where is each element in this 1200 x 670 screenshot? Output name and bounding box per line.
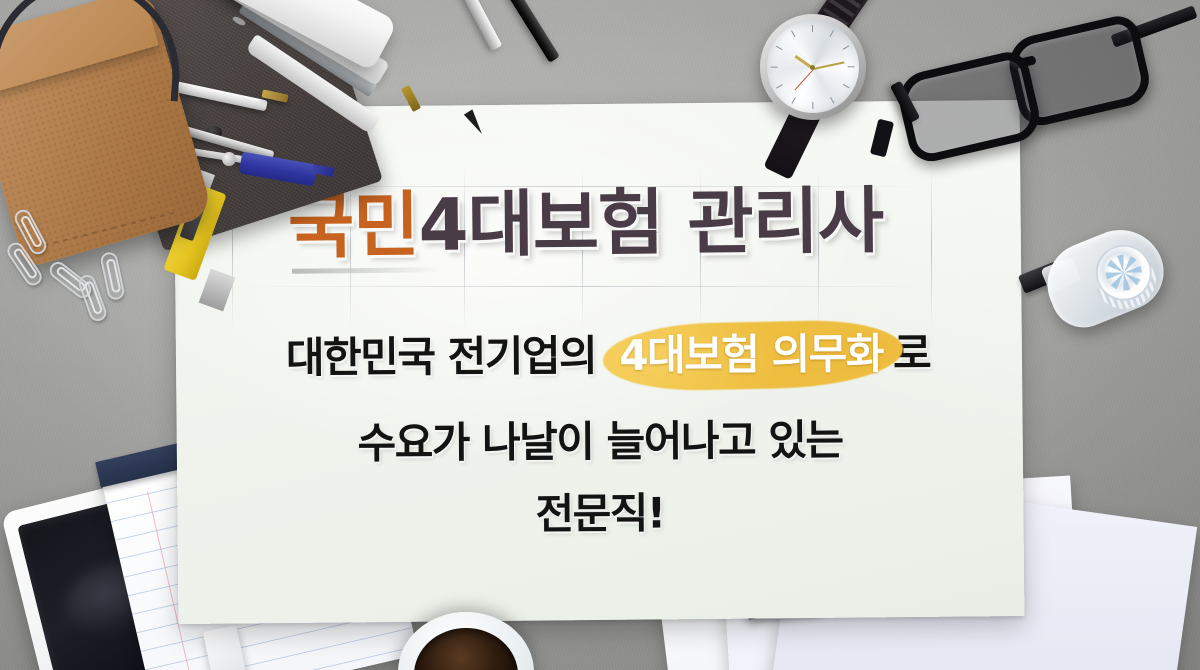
page-title: 국민4대보험 관리사 [288, 183, 969, 264]
watch-face [767, 21, 859, 113]
promo-banner: 국민4대보험 관리사 대한민국 전기업의 4대보험 의무화로 수요가 나날이 늘… [0, 0, 1200, 670]
coffee-liquid [414, 628, 518, 670]
subtitle-line-1: 대한민국 전기업의 4대보험 의무화로 [8, 318, 1200, 387]
watch-center-pin [810, 65, 815, 70]
wristwatch [760, 14, 866, 120]
correction-tape-wheel [1087, 236, 1160, 309]
subtitle-line-1-before: 대한민국 전기업의 [286, 331, 597, 382]
watch-minute-hand [813, 61, 845, 70]
subtitle-line-3: 전문직! [0, 476, 1200, 545]
subtitle-highlight: 4대보험 의무화 [609, 327, 893, 382]
pouch-cord [0, 0, 186, 101]
subtitle-line-2: 수요가 나날이 늘어나고 있는 [0, 404, 1200, 473]
compass-hinge [222, 152, 236, 166]
title-main: 4대보험 관리사 [418, 179, 883, 267]
watch-second-hand [794, 69, 814, 91]
